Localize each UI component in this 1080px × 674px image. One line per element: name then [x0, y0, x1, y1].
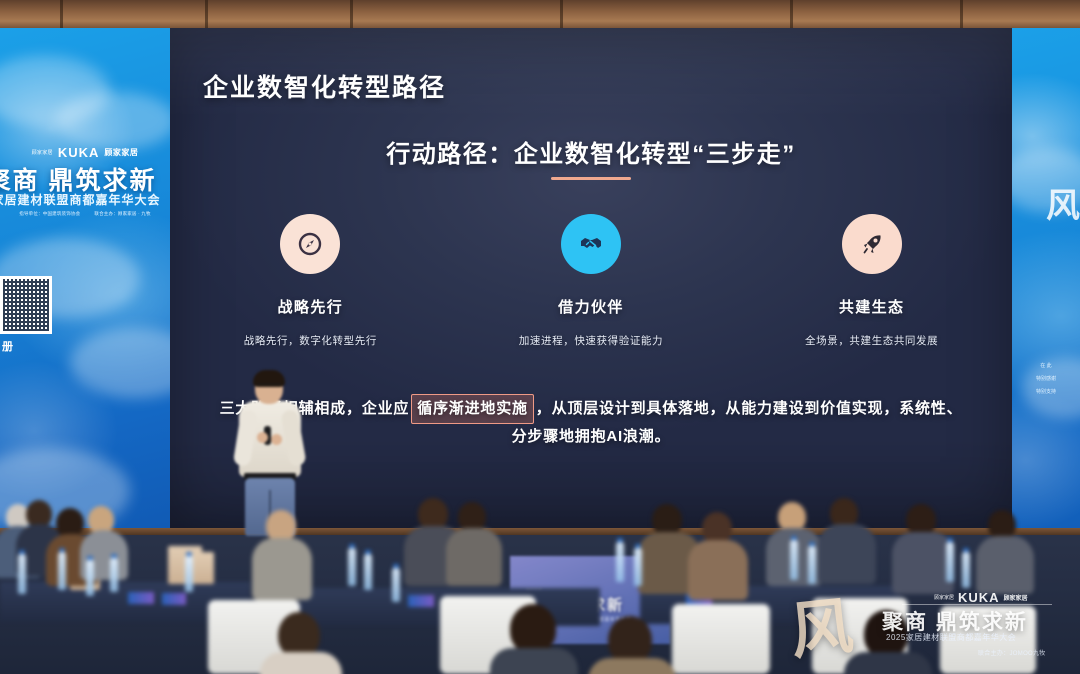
water-bottle — [110, 558, 118, 592]
water-bottle — [86, 560, 94, 596]
water-bottle — [58, 552, 66, 590]
water-bottle — [185, 556, 193, 592]
water-bottle — [364, 554, 372, 590]
water-bottle — [392, 568, 400, 602]
slide-subtitle: 行动路径：企业数智化转型“三步走” — [170, 134, 1012, 169]
conference-photo-stage: 顾家家居 KUKA 顾家家居 聚商 鼎筑求新 家居建材联盟商都嘉年华大会 指导单… — [0, 0, 1080, 674]
pillar-title-partners: 借力伙伴 — [471, 296, 711, 317]
watermark-brand-prefix: 顾家家居 — [934, 594, 954, 601]
glasses-icon — [257, 384, 281, 390]
rocket-icon — [860, 232, 884, 256]
handshake-icon — [579, 232, 603, 256]
banner-meta-right: 联合主办：顾家家居 · 九牧 — [94, 211, 150, 217]
calligraphy-glyph: 风 — [785, 575, 856, 671]
table-placard — [162, 593, 186, 605]
event-watermark: 风 顾家家居 KUKA 顾家家居 聚商 鼎筑求新 2025家居建材联盟商都嘉年华… — [782, 570, 1080, 674]
banner-brand-cn: 顾家家居 — [104, 147, 138, 158]
pillar-desc-ecosystem: 全场景，共建生态共同发展 — [752, 333, 992, 348]
qr-caption: 册 — [2, 338, 13, 354]
pillar-title-ecosystem: 共建生态 — [752, 296, 992, 317]
table-placard — [128, 592, 154, 604]
pillar-title-strategy: 战略先行 — [190, 296, 430, 317]
right-banner-line-1: 在 此 — [1012, 360, 1080, 373]
table-placard — [408, 595, 434, 607]
pillar-desc-strategy: 战略先行，数字化转型先行 — [190, 333, 430, 348]
presenter-hand-right — [271, 434, 282, 445]
water-bottle — [18, 554, 26, 594]
watermark-brand-name: KUKA — [958, 590, 1000, 605]
water-bottle — [616, 542, 624, 582]
banner-subline: 家居建材联盟商都嘉年华大会 — [0, 191, 170, 208]
pillar-partners: 借力伙伴 加速进程，快速获得验证能力 — [471, 214, 711, 348]
right-banner-text: 在 此 特别感谢 特别支持 — [1012, 360, 1080, 399]
banner-brand-name: KUKA — [58, 145, 100, 160]
banner-meta-left: 指导单位：中国建筑装饰协会 — [19, 211, 80, 217]
watermark-brand-row: 顾家家居 KUKA 顾家家居 — [934, 590, 1028, 605]
slide-summary: 三大路径相辅相成，企业应循序渐进地实施，从顶层设计到具体落地，从能力建设到价值实… — [218, 394, 964, 451]
pillar-desc-partners: 加速进程，快速获得验证能力 — [471, 333, 711, 348]
banner-brand-prefix: 顾家家居 — [32, 149, 53, 156]
summary-highlight: 循序渐进地实施 — [411, 394, 534, 424]
chair — [672, 604, 770, 674]
watermark-subline: 2025家居建材联盟商都嘉年华大会 — [886, 632, 1080, 643]
presenter-hand-left — [257, 432, 268, 443]
pillar-ecosystem: 共建生态 全场景，共建生态共同发展 — [752, 214, 992, 348]
water-bottle — [634, 548, 642, 586]
rocket-icon-circle — [842, 214, 902, 274]
water-bottle — [348, 548, 356, 586]
compass-icon-circle — [280, 214, 340, 274]
pillars-row: 战略先行 战略先行，数字化转型先行 借力伙伴 加速进程，快速获得验证能力 — [170, 214, 1012, 348]
right-banner-line-3: 特别支持 — [1012, 386, 1080, 399]
qr-code[interactable] — [0, 276, 52, 334]
handshake-icon-circle — [561, 214, 621, 274]
ceiling-panel — [0, 0, 1080, 30]
banner-brand-row: 顾家家居 KUKA 顾家家居 — [0, 145, 170, 160]
right-banner-line-2: 特别感谢 — [1012, 373, 1080, 386]
summary-part-2: ，从顶层设计到具体落地，从能力建设到价值实现，系统性、分步骤地拥抱AI浪潮。 — [512, 400, 963, 445]
slide-title: 企业数智化转型路径 — [203, 68, 446, 104]
watermark-brand-cn: 顾家家居 — [1004, 593, 1028, 602]
watermark-organizer: 联合主办：JOMOO九牧 — [978, 648, 1046, 657]
pillar-strategy: 战略先行 战略先行，数字化转型先行 — [190, 214, 430, 348]
qr-code-pattern — [3, 279, 49, 331]
banner-meta-row: 指导单位：中国建筑装饰协会 联合主办：顾家家居 · 九牧 — [0, 211, 170, 217]
compass-icon — [298, 232, 322, 256]
subtitle-divider — [551, 177, 631, 180]
right-banner-glyph: 风 — [1046, 178, 1080, 227]
